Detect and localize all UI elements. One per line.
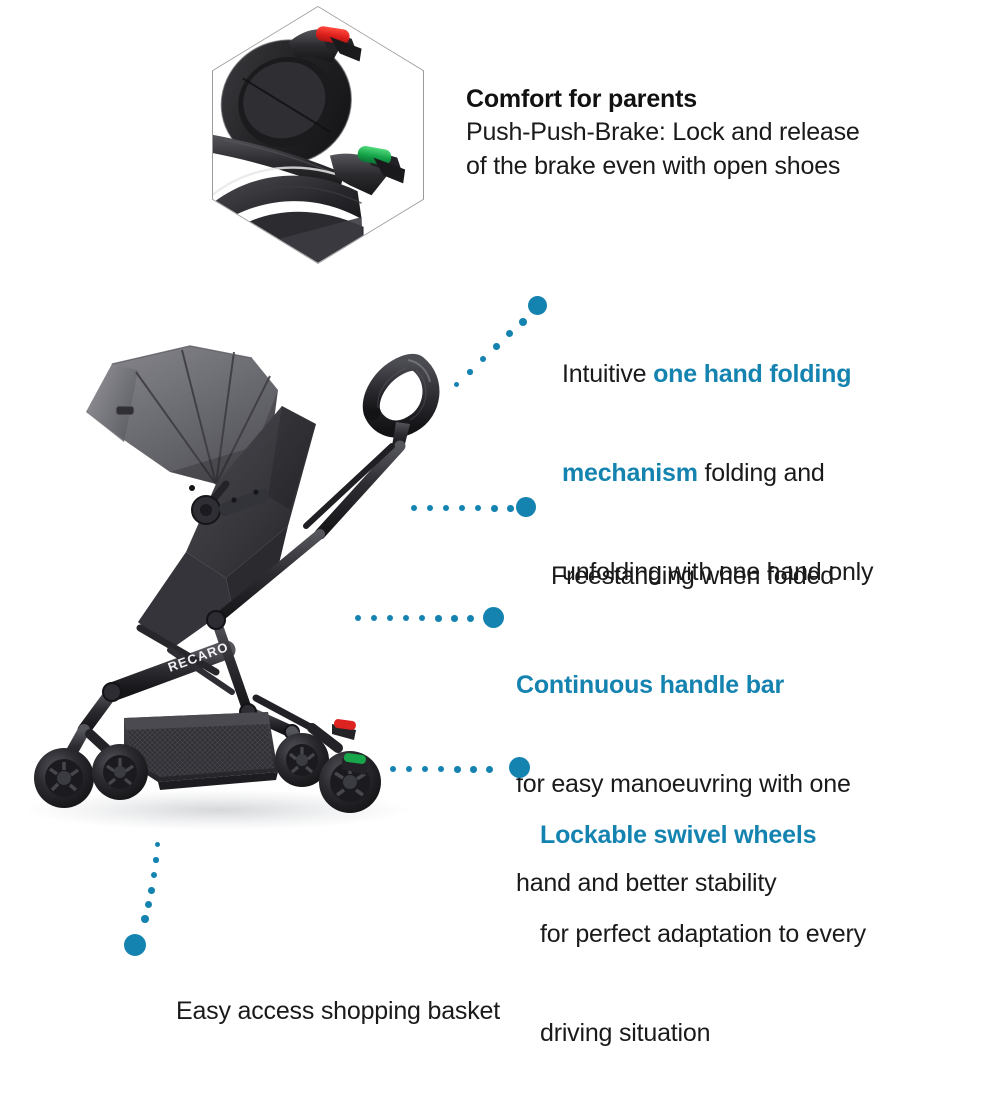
trail-dot — [475, 505, 481, 511]
top-callout-body-line-1: Push-Push-Brake: Lock and release — [466, 116, 966, 150]
stroller-illustration: RECARO — [20, 320, 440, 850]
top-callout-text: Comfort for parents Push-Push-Brake: Loc… — [466, 83, 966, 183]
trail-dot — [467, 369, 473, 375]
callout-lockable-swivel-wheels-text: Lockable swivel wheels for perfect adapt… — [540, 753, 970, 1116]
callout-text-run: for easy manoeuvring with one — [516, 770, 851, 798]
infographic-canvas: Comfort for parents Push-Push-Brake: Loc… — [0, 0, 1000, 1000]
trail-dot — [454, 382, 459, 387]
brake-closeup-inset — [212, 6, 424, 264]
trail-dot — [486, 766, 493, 773]
callout-text-run: for perfect adaptation to every — [540, 920, 866, 948]
rear-wheels — [275, 719, 381, 813]
trail-dot — [467, 615, 474, 622]
callout-text-run: Intuitive — [562, 360, 653, 388]
callout-bullet — [124, 934, 146, 956]
trail-dot — [148, 887, 155, 894]
callout-bullet — [509, 757, 530, 778]
callout-text-run-highlight: mechanism — [562, 459, 698, 487]
top-callout-body-line-2: of the brake even with open shoes — [466, 150, 966, 184]
callout-text-run: hand and better stability — [516, 869, 776, 897]
callout-bullet — [528, 296, 547, 315]
trail-dot — [493, 343, 500, 350]
callout-bullet — [483, 607, 504, 628]
callout-bullet — [516, 497, 536, 517]
callout-text-run-highlight: Lockable swivel wheels — [540, 821, 816, 849]
trail-dot — [443, 505, 449, 511]
trail-dot — [454, 766, 461, 773]
trail-dot — [141, 915, 149, 923]
continuous-handle-bar — [306, 360, 431, 534]
callout-text-run: driving situation — [540, 1019, 710, 1047]
callout-shopping-basket-text: Easy access shopping basket — [176, 929, 636, 1094]
brake-closeup-image — [213, 7, 423, 263]
trail-dot — [506, 330, 513, 337]
callout-text-run-highlight: Continuous handle bar — [516, 671, 784, 699]
trail-dot — [480, 356, 486, 362]
trail-dot — [451, 615, 458, 622]
trail-dot — [491, 505, 498, 512]
trail-dot — [145, 901, 152, 908]
callout-freestanding-text: Freestanding when folded — [551, 494, 971, 659]
trail-dot — [153, 857, 159, 863]
callout-text-run: unfolding with one hand only — [562, 558, 873, 586]
callout-text-run-highlight: one hand folding — [653, 360, 851, 388]
trail-dot — [507, 505, 514, 512]
callout-one-hand-folding-text: Intuitive one hand folding mechanism fol… — [562, 292, 982, 655]
callout-continuous-handle-bar-text: Continuous handle bar for easy manoeuvri… — [516, 603, 946, 966]
trail-dot — [470, 766, 477, 773]
stroller-product-image: RECARO — [20, 320, 440, 850]
hexagon-photo-frame — [213, 7, 423, 263]
trail-dot — [151, 872, 157, 878]
callout-text-run: folding and — [698, 459, 825, 487]
callout-text-run: Easy access shopping basket — [176, 997, 500, 1025]
top-callout-title: Comfort for parents — [466, 83, 966, 116]
callout-text-run: Freestanding when folded — [551, 562, 834, 590]
trail-dot — [459, 505, 465, 511]
trail-dot — [519, 318, 527, 326]
